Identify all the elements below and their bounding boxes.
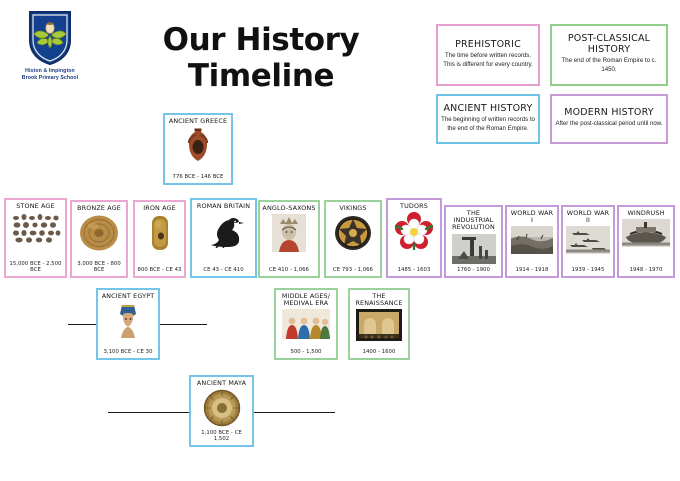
card-title: ANGLO-SAXONS [262, 205, 315, 212]
tudor-rose-icon [394, 212, 434, 250]
school-name-line2: Brook Primary School [14, 75, 86, 82]
viking-shield-icon [333, 214, 373, 252]
card-date: 1914 - 1918 [516, 265, 549, 273]
timeline-card-anglo-saxons[interactable]: ANGLO-SAXONS CE 410 - 1,066 [258, 200, 320, 278]
legend-card-modern-history: MODERN HISTORY After the post-classical … [550, 94, 668, 144]
timeline-card-stone-age[interactable]: STONE AGE 15,000 BCE - 2,500 BCE [4, 198, 67, 278]
history-timeline-poster: Histon & Impington Brook Primary School … [0, 0, 680, 481]
card-title: BRONZE AGE [77, 205, 121, 212]
renaissance-fresco-icon [356, 309, 402, 341]
card-date: CE 793 - 1,066 [333, 265, 373, 273]
legend-card-ancient-history: ANCIENT HISTORY The beginning of written… [436, 94, 540, 144]
windrush-ship-icon [622, 219, 670, 247]
school-crest-block: Histon & Impington Brook Primary School [14, 10, 86, 82]
legend-title: POST-CLASSICAL HISTORY [555, 34, 663, 55]
card-title: MIDDLE AGES/ MEDIVAL ERA [278, 293, 334, 307]
timeline-card-ancient-egypt[interactable]: ANCIENT EGYPT 3,100 BCE - CE 30 [96, 288, 160, 360]
card-date: 1760 - 1900 [457, 265, 490, 273]
card-title: ANCIENT GREECE [169, 118, 227, 125]
school-name: Histon & Impington Brook Primary School [14, 68, 86, 82]
card-title: THE RENAISSANCE [352, 293, 406, 307]
stone-tools-icon [11, 212, 61, 244]
connector-line-egypt-left [68, 324, 96, 325]
connector-line-egypt-right [160, 324, 207, 325]
bronze-shield-disc-icon [79, 214, 119, 252]
card-title: VIKINGS [339, 205, 366, 212]
greek-amphora-vase-icon [185, 127, 211, 163]
card-date: CE 43 - CE 410 [203, 265, 243, 273]
school-shield-crest-icon [27, 10, 73, 66]
timeline-card-the-renaissance[interactable]: THE RENAISSANCE 1400 - 1600 [348, 288, 410, 360]
timeline-card-windrush[interactable]: WINDRUSH 1948 - 1970 [617, 205, 675, 278]
timeline-card-world-war-two[interactable]: WORLD WAR II 1939 - 1945 [561, 205, 615, 278]
card-date: 1939 - 1945 [572, 265, 605, 273]
legend-body: After the post-classical period until no… [555, 120, 663, 129]
timeline-card-ancient-greece[interactable]: ANCIENT GREECE 776 BCE - 146 BCE [163, 113, 233, 185]
roman-eagle-icon [203, 212, 245, 248]
card-date: 15,000 BCE - 2,500 BCE [8, 259, 63, 273]
card-date: 1400 - 1600 [363, 347, 396, 355]
card-date: 1,100 BCE - CE 1,502 [193, 428, 250, 442]
card-date: 800 BCE - CE 43 [138, 265, 182, 273]
timeline-card-middle-ages[interactable]: MIDDLE AGES/ MEDIVAL ERA 500 - 1,500 [274, 288, 338, 360]
maya-calendar-stone-icon [203, 389, 241, 427]
card-title: ANCIENT EGYPT [102, 293, 155, 300]
legend-body: The time before written records. This is… [441, 52, 535, 70]
card-date: 3,000 BCE - 800 BCE [74, 259, 124, 273]
card-title: IRON AGE [143, 205, 176, 212]
card-title: WINDRUSH [627, 210, 664, 217]
school-name-line1: Histon & Impington [14, 68, 86, 75]
medieval-figures-icon [282, 309, 330, 339]
card-title: THE INDUSTRIAL REVOLUTION [448, 210, 499, 232]
connector-line-maya-left [108, 412, 189, 413]
timeline-card-roman-britain[interactable]: ROMAN BRITAIN CE 43 - CE 410 [190, 198, 257, 278]
card-date: 500 - 1,500 [290, 347, 321, 355]
page-title: Our History Timeline [96, 22, 426, 94]
legend-title: PREHISTORIC [441, 40, 535, 50]
card-date: 3,100 BCE - CE 30 [103, 347, 152, 355]
timeline-card-tudors[interactable]: TUDORS 1485 - 1603 [386, 198, 442, 278]
card-title: ROMAN BRITAIN [197, 203, 250, 210]
card-title: ANCIENT MAYA [197, 380, 246, 387]
nefertiti-bust-icon [115, 302, 141, 338]
card-title: WORLD WAR II [565, 210, 611, 224]
saxon-king-portrait-icon [272, 214, 306, 252]
legend-body: The end of the Roman Empire to c. 1450. [555, 57, 663, 75]
timeline-card-world-war-one[interactable]: WORLD WAR I 1914 - 1918 [505, 205, 559, 278]
timeline-card-ancient-maya[interactable]: ANCIENT MAYA 1,100 BCE - CE 1,502 [189, 375, 254, 447]
timeline-card-iron-age[interactable]: IRON AGE 800 BCE - CE 43 [133, 200, 186, 278]
card-date: CE 410 - 1,066 [269, 265, 309, 273]
card-date: 1948 - 1970 [630, 265, 663, 273]
connector-line-maya-right [253, 412, 335, 413]
card-title: STONE AGE [16, 203, 54, 210]
timeline-card-vikings[interactable]: VIKINGS CE 793 - 1,066 [324, 200, 382, 278]
warplanes-icon [566, 226, 610, 254]
legend-grid: PREHISTORIC The time before written reco… [436, 24, 668, 144]
legend-body: The beginning of written records to the … [441, 116, 535, 134]
iron-ingot-icon [149, 214, 171, 252]
legend-title: ANCIENT HISTORY [441, 104, 535, 114]
legend-card-prehistoric: PREHISTORIC The time before written reco… [436, 24, 540, 86]
timeline-card-industrial-revolution[interactable]: THE INDUSTRIAL REVOLUTION 1760 - 1900 [444, 205, 503, 278]
trench-battlefield-icon [511, 226, 553, 254]
factory-machine-icon [452, 234, 496, 264]
card-date: 776 BCE - 146 BCE [173, 172, 224, 180]
legend-card-post-classical-history: POST-CLASSICAL HISTORY The end of the Ro… [550, 24, 668, 86]
card-title: TUDORS [400, 203, 428, 210]
legend-title: MODERN HISTORY [555, 108, 663, 118]
card-title: WORLD WAR I [509, 210, 555, 224]
card-date: 1485 - 1603 [398, 265, 431, 273]
timeline-card-bronze-age[interactable]: BRONZE AGE 3,000 BCE - 800 BCE [70, 200, 128, 278]
